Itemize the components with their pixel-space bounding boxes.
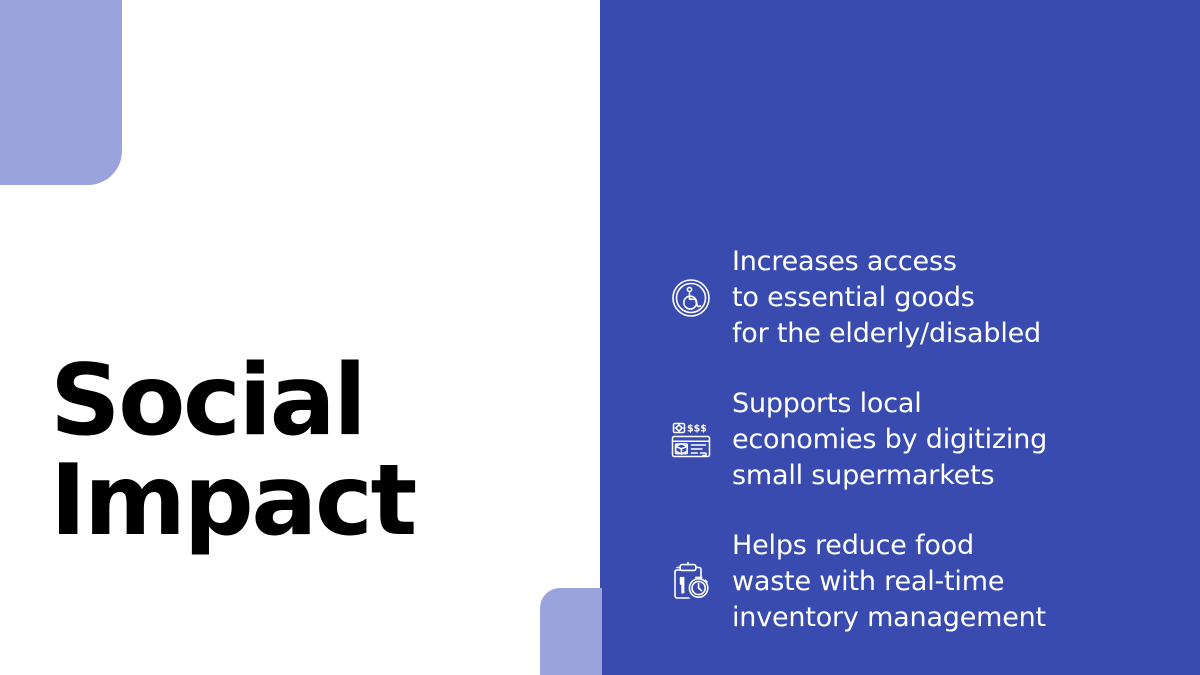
list-item: Increases access to essential goods for … [668,244,1168,352]
page-title: Social Impact [50,352,570,552]
store-money-icon: $$$ [668,417,714,463]
accessibility-wheelchair-icon [668,275,714,321]
bullet-list: Increases access to essential goods for … [668,244,1168,636]
list-item: $$$ Supports local economies by digitizi… [668,386,1168,494]
top-left-purple-shape [0,0,122,185]
clipboard-food-timer-icon [668,559,714,605]
slide-canvas: Social Impact Increases access to essent… [0,0,1200,675]
list-item-label: Increases access to essential goods for … [732,244,1041,352]
list-item-label: Helps reduce food waste with real-time i… [732,528,1046,636]
svg-text:$$$: $$$ [687,423,707,434]
bottom-purple-shape [540,588,602,675]
list-item-label: Supports local economies by digitizing s… [732,386,1047,494]
page-title-text: Social Impact [50,352,570,552]
list-item: Helps reduce food waste with real-time i… [668,528,1168,636]
